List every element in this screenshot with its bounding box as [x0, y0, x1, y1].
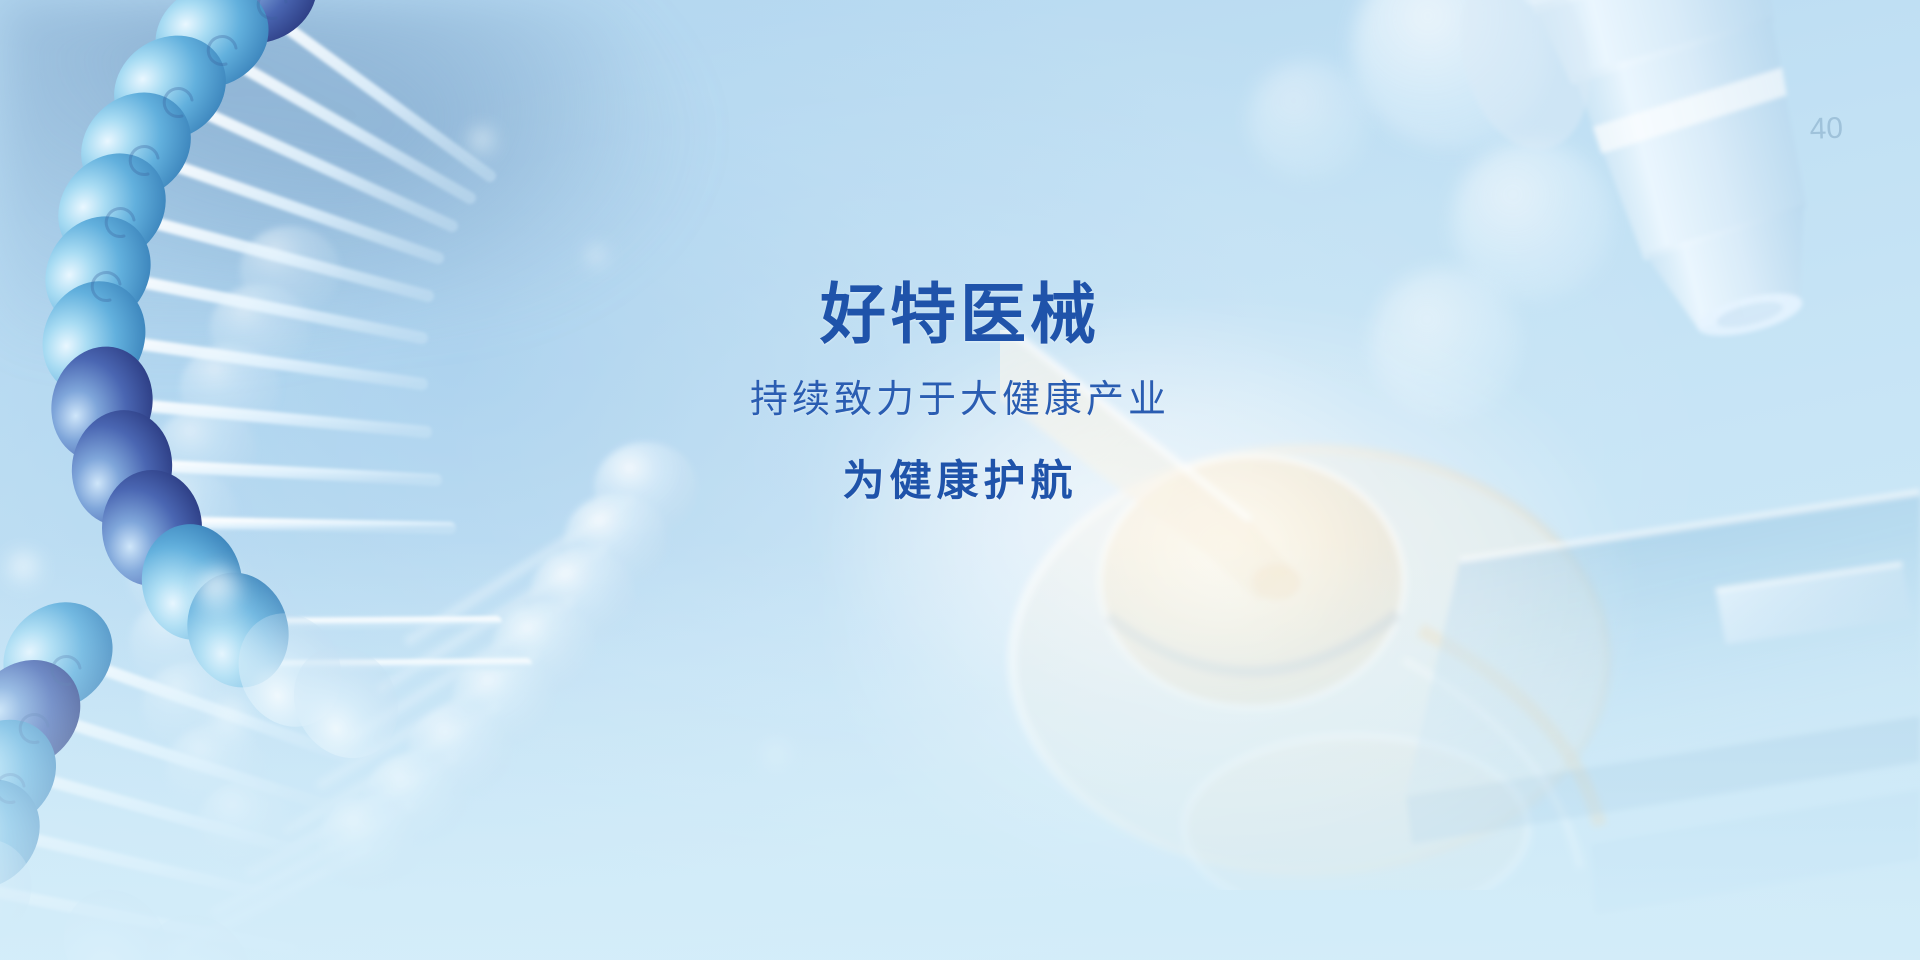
hero-banner: 40 — [0, 0, 1920, 960]
bottom-glow-overlay — [0, 540, 1920, 960]
